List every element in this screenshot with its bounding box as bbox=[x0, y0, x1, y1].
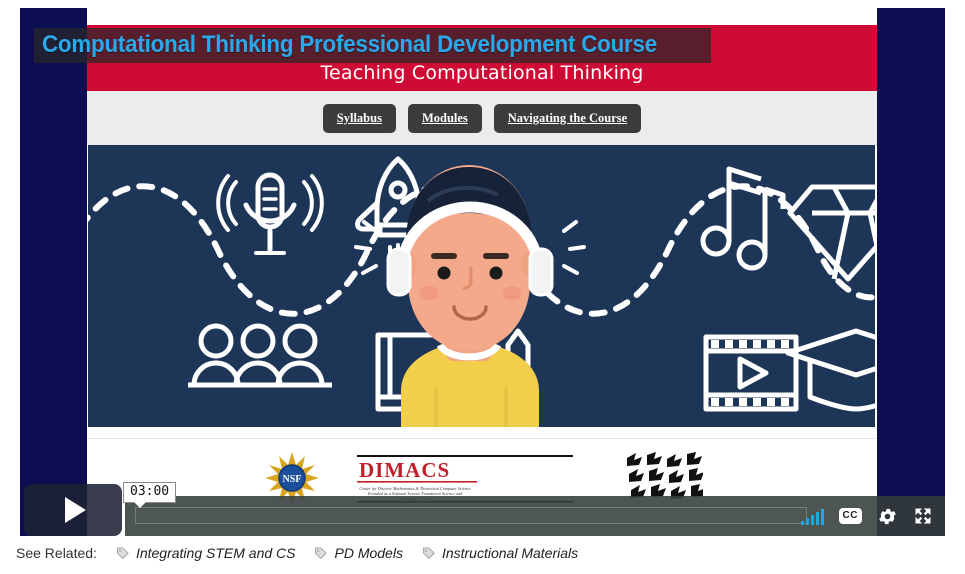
tag-icon bbox=[313, 546, 328, 561]
svg-text:DIMACS: DIMACS bbox=[359, 458, 450, 482]
illustration-svg bbox=[88, 145, 875, 427]
nav-button-navigating-the-course[interactable]: Navigating the Course bbox=[494, 104, 641, 133]
right-controls: CC bbox=[801, 496, 933, 536]
slide-banner-text: Teaching Computational Thinking bbox=[320, 62, 643, 91]
tag-icon bbox=[421, 546, 436, 561]
related-tag-3[interactable]: Instructional Materials bbox=[421, 545, 578, 561]
related-tag-1[interactable]: Integrating STEM and CS bbox=[115, 545, 296, 561]
video-title-text: Computational Thinking Professional Deve… bbox=[42, 31, 657, 59]
related-tag-link-1[interactable]: Integrating STEM and CS bbox=[136, 545, 296, 561]
slide-illustration bbox=[88, 145, 875, 427]
tag-icon bbox=[115, 546, 130, 561]
nav-button-syllabus[interactable]: Syllabus bbox=[323, 104, 396, 133]
current-time-tooltip: 03:00 bbox=[123, 482, 176, 503]
volume-icon[interactable] bbox=[801, 508, 824, 525]
page-root: Teaching Computational Thinking Syllabus… bbox=[0, 0, 965, 574]
see-related-label: See Related: bbox=[16, 545, 97, 561]
related-tag-link-3[interactable]: Instructional Materials bbox=[442, 545, 578, 561]
gear-icon[interactable] bbox=[877, 506, 898, 527]
slide-divider bbox=[88, 438, 875, 439]
video-title-overlay: Computational Thinking Professional Deve… bbox=[34, 28, 711, 63]
see-related-row: See Related: Integrating STEM and CS PD … bbox=[16, 545, 578, 561]
cc-button[interactable]: CC bbox=[839, 508, 862, 524]
player-controls: 03:00 CC bbox=[20, 496, 945, 536]
related-tag-link-2[interactable]: PD Models bbox=[334, 545, 402, 561]
progress-scrubber[interactable] bbox=[135, 507, 807, 524]
slide-nav-strip: Syllabus Modules Navigating the Course bbox=[87, 91, 877, 145]
slide-content: Teaching Computational Thinking Syllabus… bbox=[87, 8, 877, 536]
svg-text:NSF: NSF bbox=[282, 474, 301, 485]
related-tag-2[interactable]: PD Models bbox=[313, 545, 402, 561]
fullscreen-icon[interactable] bbox=[913, 506, 933, 526]
nav-button-modules[interactable]: Modules bbox=[408, 104, 482, 133]
play-icon bbox=[65, 497, 86, 523]
video-player[interactable]: Teaching Computational Thinking Syllabus… bbox=[20, 8, 945, 536]
play-button[interactable] bbox=[24, 484, 122, 536]
